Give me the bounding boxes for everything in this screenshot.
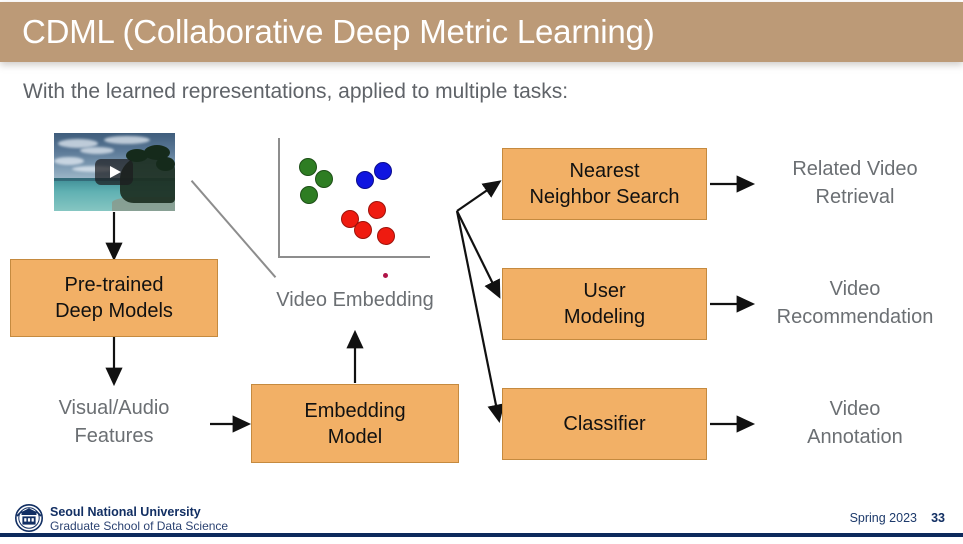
scatter-dot-green	[299, 158, 317, 176]
scatter-dot-red	[377, 227, 395, 245]
page-title: CDML (Collaborative Deep Metric Learning…	[22, 11, 655, 53]
palm-tree-icon	[156, 157, 175, 171]
video-embedding-scatter-plot	[262, 134, 442, 274]
y-axis	[278, 138, 280, 258]
scatter-dot-blue	[356, 171, 374, 189]
label-video-annotation: Video Annotation	[750, 395, 960, 451]
label-visual-audio-features: Visual/Audio Features	[14, 394, 214, 450]
footer-term: Spring 2023	[850, 511, 917, 525]
label-video-embedding: Video Embedding	[248, 286, 462, 314]
label-related-video-retrieval: Related Video Retrieval	[750, 155, 960, 211]
scatter-dot-green	[300, 186, 318, 204]
title-bar: CDML (Collaborative Deep Metric Learning…	[0, 2, 963, 62]
footer-spacer	[0, 537, 963, 544]
slide-canvas: CDML (Collaborative Deep Metric Learning…	[0, 0, 963, 544]
box-nearest-neighbor-search[interactable]: Nearest Neighbor Search	[502, 148, 707, 220]
footer-department-name: Graduate School of Data Science	[50, 519, 228, 533]
snu-crest-icon	[14, 503, 44, 533]
footer-university-name: Seoul National University	[50, 505, 201, 519]
box-classifier[interactable]: Classifier	[502, 388, 707, 460]
play-button-icon[interactable]	[95, 159, 133, 185]
box-pre-trained-deep-models[interactable]: Pre-trained Deep Models	[10, 259, 218, 337]
box-label: User Modeling	[564, 278, 645, 330]
play-triangle-icon	[110, 166, 121, 178]
box-label: Embedding Model	[304, 398, 405, 450]
box-embedding-model[interactable]: Embedding Model	[251, 384, 459, 463]
scatter-outlier-dot	[383, 273, 388, 278]
box-user-modeling[interactable]: User Modeling	[502, 268, 707, 340]
cloud-shape	[104, 136, 150, 144]
x-axis	[278, 256, 430, 258]
scatter-dot-blue	[374, 162, 392, 180]
box-label: Classifier	[563, 411, 645, 437]
cloud-shape	[80, 147, 114, 154]
box-label: Pre-trained Deep Models	[55, 272, 173, 324]
box-label: Nearest Neighbor Search	[529, 158, 679, 210]
scatter-dot-green	[315, 170, 333, 188]
cloud-shape	[54, 157, 84, 165]
scatter-dot-red	[354, 221, 372, 239]
label-video-recommendation: Video Recommendation	[748, 275, 962, 331]
subtitle-text: With the learned representations, applie…	[23, 80, 568, 104]
footer-page-number: 33	[931, 511, 945, 525]
video-thumbnail[interactable]	[54, 133, 175, 211]
scatter-dot-red	[368, 201, 386, 219]
